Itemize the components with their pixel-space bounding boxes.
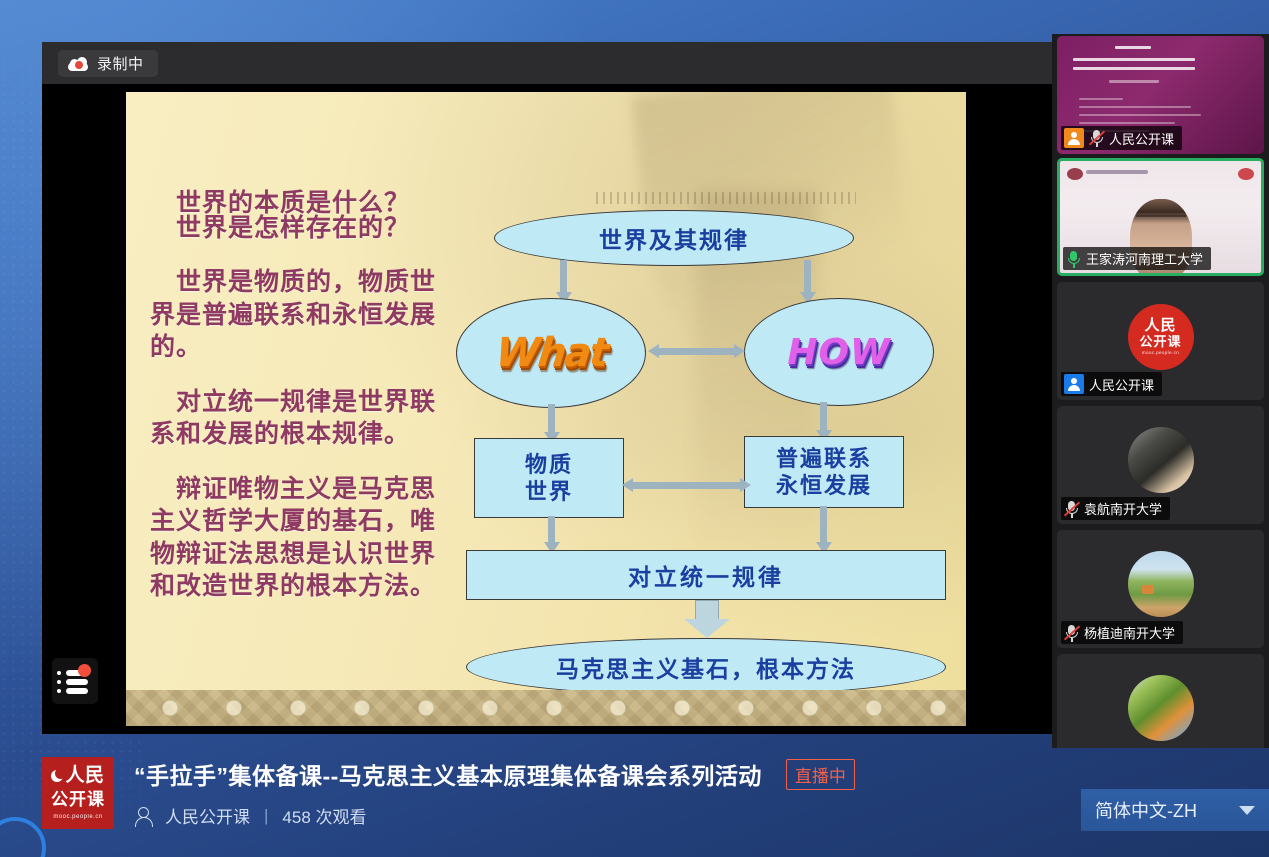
annotation-list-icon[interactable] bbox=[52, 658, 98, 704]
participant-tile-5[interactable]: 杨植迪南开大学 bbox=[1057, 530, 1264, 648]
participant-filmstrip[interactable]: 人民公开课 王家涛河南理工大学 人民 公开课 mooc.people.cn 人民… bbox=[1052, 34, 1269, 748]
shared-screen-area: 世界的本质是什么？ 世界是怎样存在的？ 世界是物质的，物质世界是普遍联系和永恒发… bbox=[42, 84, 1072, 734]
flowchart-node-universal-connection: 普遍联系 永恒发展 bbox=[744, 436, 904, 508]
recording-label: 录制中 bbox=[97, 53, 144, 74]
recording-indicator: 录制中 bbox=[58, 50, 158, 77]
speaker-glasses bbox=[1136, 215, 1186, 227]
slide-paragraph-3: 对立统一规律是世界联系和发展的根本规律。 bbox=[150, 387, 460, 452]
slide-ornamental-border bbox=[126, 690, 966, 726]
participant-name: 人民公开课 bbox=[1089, 375, 1154, 394]
arrow-what-how bbox=[658, 348, 734, 355]
flowchart-node-what: What bbox=[456, 298, 646, 408]
arrow-top-to-what bbox=[560, 260, 567, 294]
participant-name-badge: 杨植迪南开大学 bbox=[1061, 621, 1183, 644]
people-open-class-logo: 人民 公开课 mooc.people.cn bbox=[1128, 304, 1194, 370]
title-row: “手拉手”集体备课--马克思主义基本原理集体备课会系列活动 直播中 bbox=[134, 757, 855, 791]
arrow-boxes-link bbox=[632, 482, 740, 489]
mic-muted-icon bbox=[1089, 129, 1104, 147]
mic-on-icon bbox=[1066, 250, 1081, 268]
flowchart-node-conclusion: 马克思主义基石，根本方法 bbox=[466, 638, 946, 696]
brand-line-2: 公开课 bbox=[51, 791, 105, 808]
connection-line-1: 普遍联系 bbox=[776, 446, 872, 471]
participant-tile-2-active-speaker[interactable]: 王家涛河南理工大学 bbox=[1057, 158, 1264, 276]
participant-tile-4[interactable]: 袁航南开大学 bbox=[1057, 406, 1264, 524]
decorative-circle bbox=[0, 817, 46, 857]
mic-muted-icon bbox=[1064, 500, 1079, 518]
brand-line-3: mooc.people.cn bbox=[53, 814, 102, 820]
slide-flowchart: 世界及其规律 What HOW bbox=[456, 210, 946, 700]
cloud-record-icon bbox=[68, 57, 88, 71]
participant-name: 王家涛河南理工大学 bbox=[1086, 249, 1203, 268]
flowchart-node-how: HOW bbox=[744, 298, 934, 406]
participant-name-badge: 王家涛河南理工大学 bbox=[1063, 247, 1211, 270]
avatar-photo bbox=[1128, 551, 1194, 617]
arrow-head-boxes-left bbox=[622, 478, 633, 492]
blue-person-icon bbox=[1064, 374, 1084, 394]
avatar-photo bbox=[1128, 427, 1194, 493]
orange-person-icon bbox=[1064, 128, 1084, 148]
arrow-head-how-right bbox=[734, 344, 745, 358]
logo-line-3: mooc.people.cn bbox=[1142, 351, 1179, 356]
flowchart-node-matter-world: 物质 世界 bbox=[474, 438, 624, 518]
language-select[interactable]: 简体中文-ZH bbox=[1081, 789, 1269, 831]
brand-line-1: 人民 bbox=[51, 766, 104, 785]
participant-tile-3[interactable]: 人民 公开课 mooc.people.cn 人民公开课 bbox=[1057, 282, 1264, 400]
flowchart-node-unity-of-opposites: 对立统一规律 bbox=[466, 550, 946, 600]
slide-question-2: 世界是怎样存在的？ bbox=[150, 213, 460, 246]
meta-separator: | bbox=[264, 806, 268, 826]
language-select-value: 简体中文-ZH bbox=[1095, 797, 1197, 823]
flowchart-what-label: What bbox=[493, 330, 609, 376]
participant-name-badge: 人民公开课 bbox=[1061, 372, 1162, 396]
video-stage: 录制中 世界的本质是什么？ 世界是怎样存在的？ 世界是物质的，物质世界是普遍联系… bbox=[42, 42, 1072, 734]
matter-line-1: 物质 bbox=[525, 452, 573, 477]
person-icon bbox=[134, 807, 151, 825]
participant-tile-6[interactable] bbox=[1057, 654, 1264, 748]
status-badge: 直播中 bbox=[786, 759, 855, 790]
slide-text-column: 世界的本质是什么？ 世界是怎样存在的？ 世界是物质的，物质世界是普遍联系和永恒发… bbox=[150, 188, 460, 626]
stage-topbar: 录制中 bbox=[42, 42, 1072, 84]
participant-name: 袁航南开大学 bbox=[1084, 499, 1162, 518]
connection-line-2: 永恒发展 bbox=[776, 473, 872, 498]
logo-line-2: 公开课 bbox=[1139, 335, 1181, 348]
participant-name-badge: 人民公开课 bbox=[1061, 126, 1182, 150]
page-title: “手拉手”集体备课--马克思主义基本原理集体备课会系列活动 bbox=[134, 757, 762, 791]
university-logo-icon bbox=[1067, 168, 1083, 180]
flowchart-how-label: HOW bbox=[787, 332, 890, 373]
arrow-connection-to-law bbox=[820, 506, 827, 546]
slide-paragraph-4: 辩证唯物主义是马克思主义哲学大厦的基石，唯物辩证法思想是认识世界和改造世界的根本… bbox=[150, 474, 460, 604]
chevron-down-icon bbox=[1239, 806, 1255, 815]
host-name: 人民公开课 bbox=[165, 803, 250, 828]
arrow-top-to-how bbox=[804, 260, 811, 294]
meta-row: 人民公开课 | 458 次观看 bbox=[134, 803, 367, 828]
participant-name: 人民公开课 bbox=[1109, 129, 1174, 148]
matter-line-2: 世界 bbox=[525, 479, 573, 504]
banner-text bbox=[1086, 170, 1148, 174]
mic-muted-icon bbox=[1064, 624, 1079, 642]
moon-mark-icon bbox=[51, 770, 63, 782]
presentation-slide: 世界的本质是什么？ 世界是怎样存在的？ 世界是物质的，物质世界是普遍联系和永恒发… bbox=[126, 92, 966, 726]
people-logo-icon bbox=[1238, 168, 1254, 180]
participant-tile-1[interactable]: 人民公开课 bbox=[1057, 36, 1264, 154]
brand-logo: 人民 公开课 mooc.people.cn bbox=[42, 757, 114, 829]
view-count: 458 次观看 bbox=[282, 803, 366, 828]
avatar-photo bbox=[1128, 675, 1194, 741]
arrow-law-to-conclusion bbox=[684, 600, 730, 638]
flowchart-node-top: 世界及其规律 bbox=[494, 210, 854, 266]
arrow-head-what-left bbox=[648, 344, 659, 358]
slide-scroll-decoration bbox=[596, 192, 856, 204]
arrow-head-boxes-right bbox=[740, 478, 751, 492]
logo-line-1: 人民 bbox=[1144, 318, 1176, 333]
event-info-bar: 人民 公开课 mooc.people.cn “手拉手”集体备课--马克思主义基本… bbox=[42, 753, 1269, 845]
slide-paragraph-2: 世界是物质的，物质世界是普遍联系和永恒发展的。 bbox=[150, 267, 460, 365]
notification-badge bbox=[78, 664, 91, 677]
participant-name-badge: 袁航南开大学 bbox=[1061, 497, 1170, 520]
participant-name: 杨植迪南开大学 bbox=[1084, 623, 1175, 642]
